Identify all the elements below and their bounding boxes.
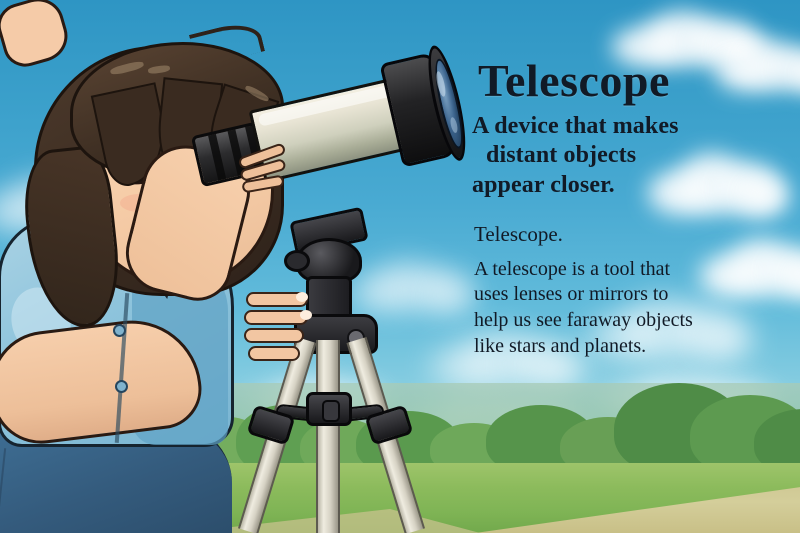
short-definition: A device that makes distant objects appe… — [472, 112, 788, 200]
long-definition-line-1: A telescope is a tool that — [474, 257, 788, 283]
finger — [248, 346, 300, 361]
page-title: Telescope — [478, 58, 788, 104]
fingernail — [296, 292, 308, 302]
tripod-brace-pivot — [322, 400, 340, 422]
long-definition-line-4: like stars and planets. — [474, 334, 788, 360]
long-definition-line-3: help us see faraway objects — [474, 308, 788, 334]
finger — [244, 310, 308, 325]
shirt-button — [113, 324, 126, 337]
eyepiece-ring — [208, 134, 226, 181]
fingernail — [300, 310, 312, 320]
shirt-button — [115, 380, 128, 393]
illustration-card: Telescope A device that makes distant ob… — [0, 0, 800, 533]
term-heading: Telescope. — [474, 222, 788, 247]
short-definition-line-1: A device that makes — [472, 113, 679, 139]
long-definition: A telescope is a tool that uses lenses o… — [474, 257, 788, 359]
short-definition-line-2: distant objects — [472, 141, 788, 170]
finger — [244, 328, 304, 343]
text-panel: Telescope A device that makes distant ob… — [468, 58, 788, 359]
short-definition-line-3: appear closer. — [472, 171, 788, 200]
long-definition-line-2: uses lenses or mirrors to — [474, 282, 788, 308]
tripod-adjust-knob — [284, 250, 310, 272]
tripod-leg-center — [316, 340, 340, 533]
